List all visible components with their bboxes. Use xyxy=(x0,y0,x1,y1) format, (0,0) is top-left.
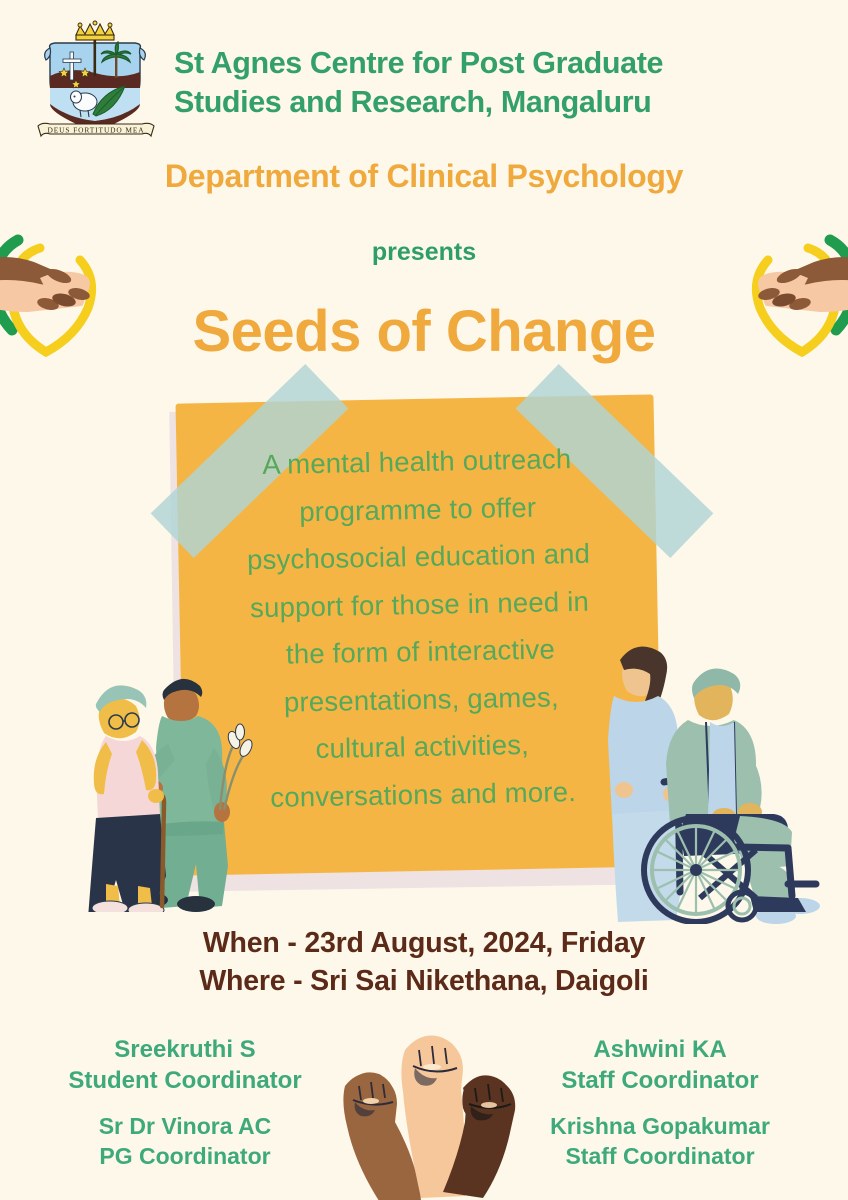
elderly-couple-illustration xyxy=(62,612,262,912)
organisation-title: St Agnes Centre for Post Graduate Studie… xyxy=(174,44,794,122)
coordinator-role: PG Coordinator xyxy=(20,1142,350,1172)
organisation-title-line2: Studies and Research, Mangaluru xyxy=(174,83,794,122)
coordinator-name: Sreekruthi S xyxy=(20,1034,350,1065)
coordinator-role: Student Coordinator xyxy=(20,1065,350,1096)
coordinator-name: Krishna Gopakumar xyxy=(495,1112,825,1142)
coordinator-block-staff-2: Krishna Gopakumar Staff Coordinator xyxy=(495,1112,825,1172)
coordinator-block-pg: Sr Dr Vinora AC PG Coordinator xyxy=(20,1112,350,1172)
poster-header: DEUS FORTITUDO MEA St Agnes Centre for P… xyxy=(0,18,848,150)
organisation-title-line1: St Agnes Centre for Post Graduate xyxy=(174,44,794,83)
wheelchair-scene-illustration xyxy=(600,634,848,924)
poster-canvas: DEUS FORTITUDO MEA St Agnes Centre for P… xyxy=(0,0,848,1200)
event-details: When - 23rd August, 2024, Friday Where -… xyxy=(0,925,848,1001)
coordinator-block-staff-1: Ashwini KA Staff Coordinator xyxy=(495,1034,825,1096)
coordinator-role: Staff Coordinator xyxy=(495,1142,825,1172)
handshake-icon-right xyxy=(685,218,848,393)
st-agnes-crest-logo: DEUS FORTITUDO MEA xyxy=(30,18,160,150)
coordinator-name: Sr Dr Vinora AC xyxy=(20,1112,350,1142)
event-when: When - 23rd August, 2024, Friday xyxy=(0,925,848,963)
coordinator-block-student: Sreekruthi S Student Coordinator xyxy=(20,1034,350,1096)
coordinator-name: Ashwini KA xyxy=(495,1034,825,1065)
department-title: Department of Clinical Psychology xyxy=(0,158,848,195)
event-where: Where - Sri Sai Nikethana, Daigoli xyxy=(0,963,848,1001)
handshake-icon-left xyxy=(0,218,163,393)
coordinator-role: Staff Coordinator xyxy=(495,1065,825,1096)
crest-motto: DEUS FORTITUDO MEA xyxy=(47,126,144,135)
